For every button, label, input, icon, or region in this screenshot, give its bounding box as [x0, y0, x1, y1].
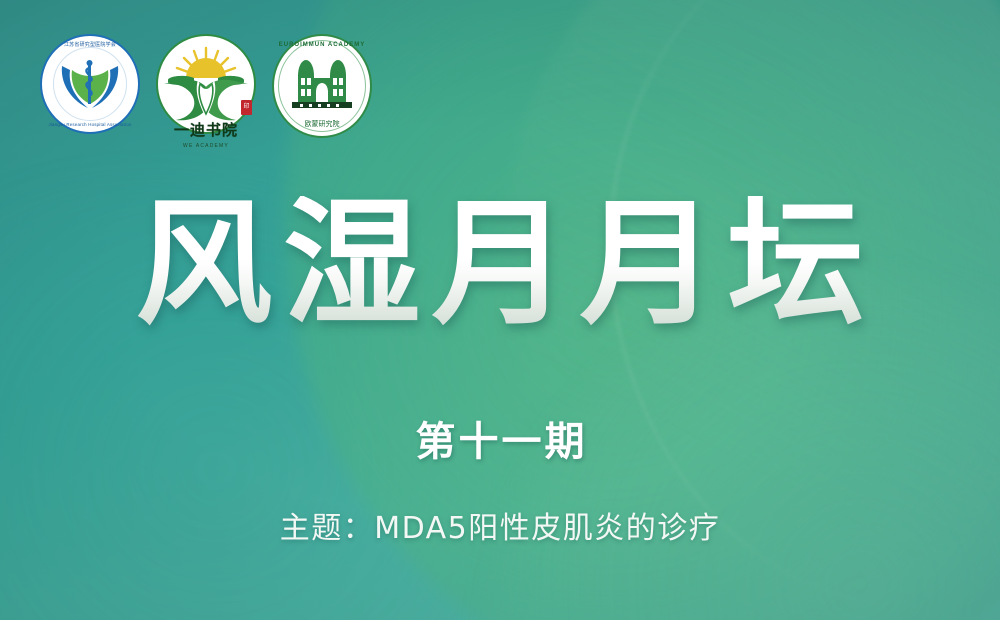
caduceus-snake-rod-icon: [58, 56, 122, 112]
episode-label: 第十一期: [0, 409, 1000, 467]
logo-we-academy: 印 一迪书院 WE ACADEMY: [154, 34, 258, 150]
page-title: 风湿月月坛: [0, 196, 1000, 333]
theme-label: 主题：MDA5阳性皮肌炎的诊疗: [0, 503, 1000, 547]
holstentor-gate-icon: [292, 58, 352, 110]
logo-euroimmun-academy: EUROIMMUN ACADEMY 欧蒙研究院: [272, 34, 372, 138]
logo-ring-text-en: Jiangsu Research Hospital Association: [40, 122, 140, 127]
logo-arc-text-en: EUROIMMUN ACADEMY: [272, 42, 372, 48]
logo-row: 江苏省研究型医院学会 Jiangsu Research Hospital Ass…: [40, 34, 372, 150]
logo-wordmark-en: WE ACADEMY: [154, 143, 258, 149]
seal-stamp: 印: [241, 100, 252, 115]
presentation-slide: 江苏省研究型医院学会 Jiangsu Research Hospital Ass…: [0, 0, 1000, 620]
logo-ring-text-cn: 江苏省研究型医院学会: [40, 41, 140, 48]
logo-arc-text-cn: 欧蒙研究院: [272, 119, 372, 129]
sunrise-over-road-icon: [164, 44, 248, 124]
logo-wordmark-cn: 一迪书院: [154, 119, 258, 140]
logo-jiangsu-research-hospital-association: 江苏省研究型医院学会 Jiangsu Research Hospital Ass…: [40, 34, 140, 134]
